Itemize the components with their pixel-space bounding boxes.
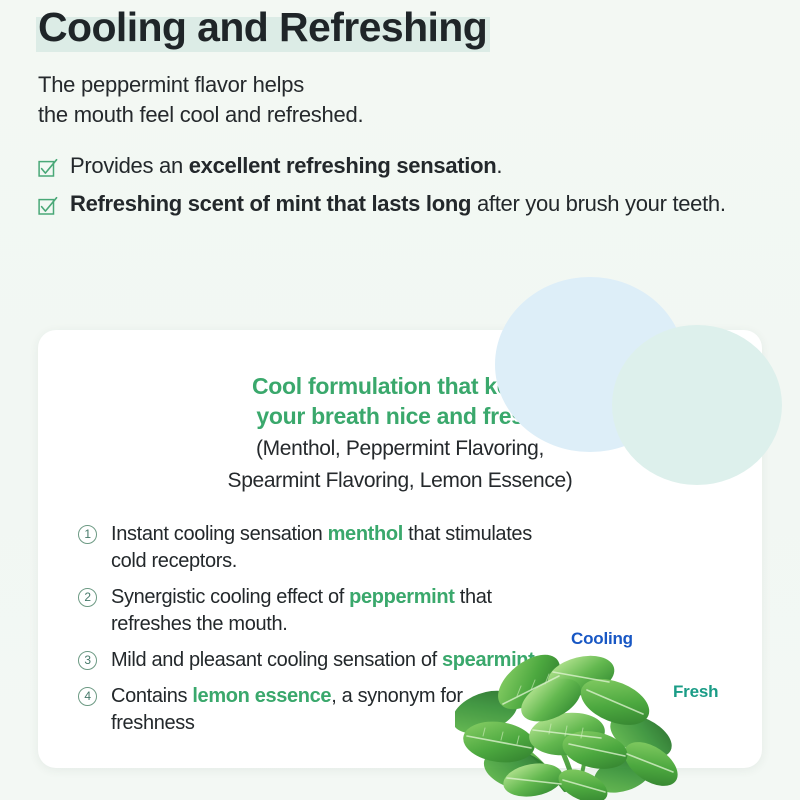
item-text-pre: Instant cooling sensation xyxy=(111,523,328,545)
item-accent-term: peppermint xyxy=(349,586,454,608)
check-item-bold: Refreshing scent of mint that lasts long xyxy=(70,191,471,216)
check-item-post: . xyxy=(496,153,502,178)
check-item-bold: excellent refreshing sensation xyxy=(189,153,497,178)
check-item-pre: Provides an xyxy=(70,153,189,178)
list-item: Refreshing scent of mint that lasts long… xyxy=(38,188,758,219)
list-item: 4 Contains lemon essence, a synonym for … xyxy=(78,683,548,737)
ingredient-numbered-list: 1 Instant cooling sensation menthol that… xyxy=(78,521,548,746)
fresh-label: Fresh xyxy=(673,682,718,702)
intro-line-2: the mouth feel cool and refreshed. xyxy=(38,100,758,130)
checkbox-checked-icon xyxy=(38,155,58,175)
list-number-badge: 2 xyxy=(78,588,97,607)
check-item-post: after you brush your teeth. xyxy=(471,191,726,216)
list-item: 1 Instant cooling sensation menthol that… xyxy=(78,521,548,575)
item-accent-term: spearmint xyxy=(442,649,534,671)
item-text-pre: Synergistic cooling effect of xyxy=(111,586,349,608)
item-text-pre: Contains xyxy=(111,685,192,707)
list-item: 2 Synergistic cooling effect of peppermi… xyxy=(78,584,548,638)
item-text-post: . xyxy=(534,649,539,671)
intro-paragraph: The peppermint flavor helps the mouth fe… xyxy=(38,70,758,130)
list-number-badge: 3 xyxy=(78,651,97,670)
benefit-check-list: Provides an excellent refreshing sensati… xyxy=(38,150,758,219)
page-title: Cooling and Refreshing xyxy=(36,2,490,52)
header-block: Cooling and Refreshing The peppermint fl… xyxy=(38,2,758,226)
list-number-badge: 4 xyxy=(78,687,97,706)
list-item: 3 Mild and pleasant cooling sensation of… xyxy=(78,647,548,674)
list-number-badge: 1 xyxy=(78,525,97,544)
item-accent-term: lemon essence xyxy=(192,685,331,707)
poster-stage: Cooling and Refreshing The peppermint fl… xyxy=(0,0,800,800)
list-item: Provides an excellent refreshing sensati… xyxy=(38,150,758,181)
item-text-pre: Mild and pleasant cooling sensation of xyxy=(111,649,442,671)
item-accent-term: menthol xyxy=(328,523,403,545)
fresh-circle-shape xyxy=(612,325,782,485)
checkbox-checked-icon xyxy=(38,193,58,213)
intro-line-1: The peppermint flavor helps xyxy=(38,70,758,100)
cooling-label: Cooling xyxy=(571,629,633,649)
